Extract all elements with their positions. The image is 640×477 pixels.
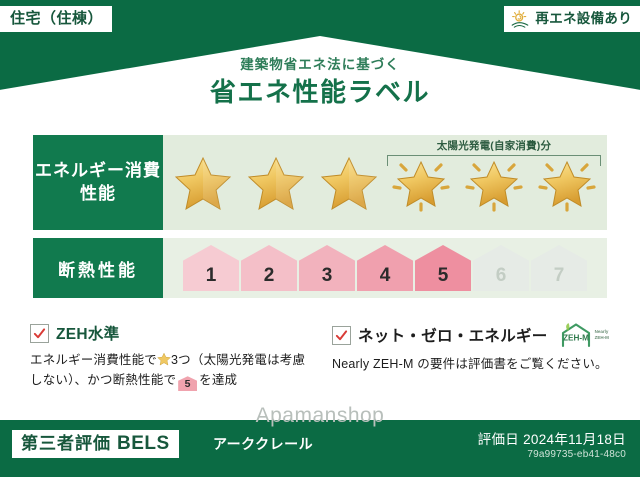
energy-row-label: エネルギー消費性能 [33, 135, 163, 230]
star-filled-solar [536, 152, 598, 214]
energy-performance-row: エネルギー消費性能 太陽光発電(自家消費)分 [33, 135, 607, 230]
zeh-m-house-icon: ZEH-M [559, 322, 593, 348]
energy-row-body: 太陽光発電(自家消費)分 [163, 135, 607, 230]
watermark: Apamanshop [0, 404, 640, 428]
bels-badge-en: BELS [117, 434, 170, 453]
star-filled-solar [390, 152, 452, 214]
evaluation-date: 評価日 2024年11月18日 [478, 428, 626, 448]
renewable-badge-label: 再エネ設備あり [535, 12, 632, 26]
checkbox-net-zero-energy[interactable] [332, 326, 351, 345]
evaluation-id: 79a99735-eb41-48c0 [527, 449, 626, 460]
inline-grade-badge: 5 [178, 376, 197, 391]
checkbox-zeh-standard[interactable] [30, 324, 49, 343]
grade-badge: 4 [357, 245, 413, 291]
note-zeh-standard: ZEH水準 エネルギー消費性能で3つ（太陽光発電は考慮しない）、かつ断熱性能で5… [30, 322, 312, 391]
title-main: 省エネ性能ラベル [0, 76, 640, 109]
note-zeh-text-1: エネルギー消費性能で [30, 353, 157, 367]
star-icon [246, 154, 306, 212]
zeh-m-sub-line1: Nearly [595, 329, 609, 334]
grade-badge-inactive: 7 [531, 245, 587, 291]
note-zeh-body: エネルギー消費性能で3つ（太陽光発電は考慮しない）、かつ断熱性能で5を達成 [30, 350, 312, 391]
star-filled [172, 152, 234, 214]
note-zeh-text-3: を達成 [199, 373, 237, 387]
star-filled-solar [463, 152, 525, 214]
bels-badge-ja: 第三者評価 [21, 435, 111, 452]
insulation-row-body: 1 2 3 4 5 6 7 [163, 238, 607, 298]
title-subtitle: 建築物省エネ法に基づく [0, 57, 640, 73]
grade-badge: 5 [415, 245, 471, 291]
builder-name: アーククレール [213, 434, 313, 454]
star-filled [245, 152, 307, 214]
grade-badge: 3 [299, 245, 355, 291]
note-nze-header: ネット・ゼロ・エネルギー ZEH-M Nearly ZEH-M [332, 322, 614, 348]
star-sparkle-icon [464, 154, 524, 212]
star-icon [173, 154, 233, 212]
star-rating [163, 135, 607, 230]
star-icon [319, 154, 379, 212]
insulation-grade-scale: 1 2 3 4 5 6 7 [163, 238, 607, 298]
note-nze-title: ネット・ゼロ・エネルギー [358, 324, 548, 346]
check-icon [335, 329, 348, 342]
insulation-row-label: 断熱性能 [33, 238, 163, 298]
grade-badge-inactive: 6 [473, 245, 529, 291]
check-icon [33, 327, 46, 340]
inline-star-icon [157, 352, 171, 366]
zeh-m-logo-subtext: Nearly ZEH-M [595, 329, 609, 340]
insulation-performance-row: 断熱性能 1 2 3 4 5 6 7 [33, 238, 607, 298]
note-nze-body: Nearly ZEH-M の要件は評価書をご覧ください。 [332, 354, 614, 374]
star-sparkle-icon [391, 154, 451, 212]
note-zeh-header: ZEH水準 [30, 322, 312, 344]
star-filled [318, 152, 380, 214]
bels-badge: 第三者評価 BELS [12, 430, 179, 458]
solar-sun-icon [510, 10, 530, 28]
star-sparkle-icon [537, 154, 597, 212]
zeh-m-logo: ZEH-M Nearly ZEH-M [559, 322, 609, 348]
building-type-tag: 住宅（住棟） [0, 6, 112, 32]
note-net-zero-energy: ネット・ゼロ・エネルギー ZEH-M Nearly ZEH-M Nearly Z… [332, 322, 614, 391]
svg-text:ZEH-M: ZEH-M [563, 334, 589, 343]
grade-badge: 2 [241, 245, 297, 291]
zeh-m-sub-line2: ZEH-M [595, 335, 609, 340]
grade-badge: 1 [183, 245, 239, 291]
label-title-block: 建築物省エネ法に基づく 省エネ性能ラベル [0, 57, 640, 109]
notes-section: ZEH水準 エネルギー消費性能で3つ（太陽光発電は考慮しない）、かつ断熱性能で5… [30, 322, 614, 391]
energy-performance-label: 住宅（住棟） 再エネ設備あり 建築物省エネ法に基づく 省エネ性能ラベル エネルギ… [0, 0, 640, 477]
note-zeh-title: ZEH水準 [56, 322, 120, 344]
renewable-equipment-badge: 再エネ設備あり [504, 6, 640, 32]
footer-band: 第三者評価 BELS アーククレール 評価日 2024年11月18日 79a99… [0, 420, 640, 477]
